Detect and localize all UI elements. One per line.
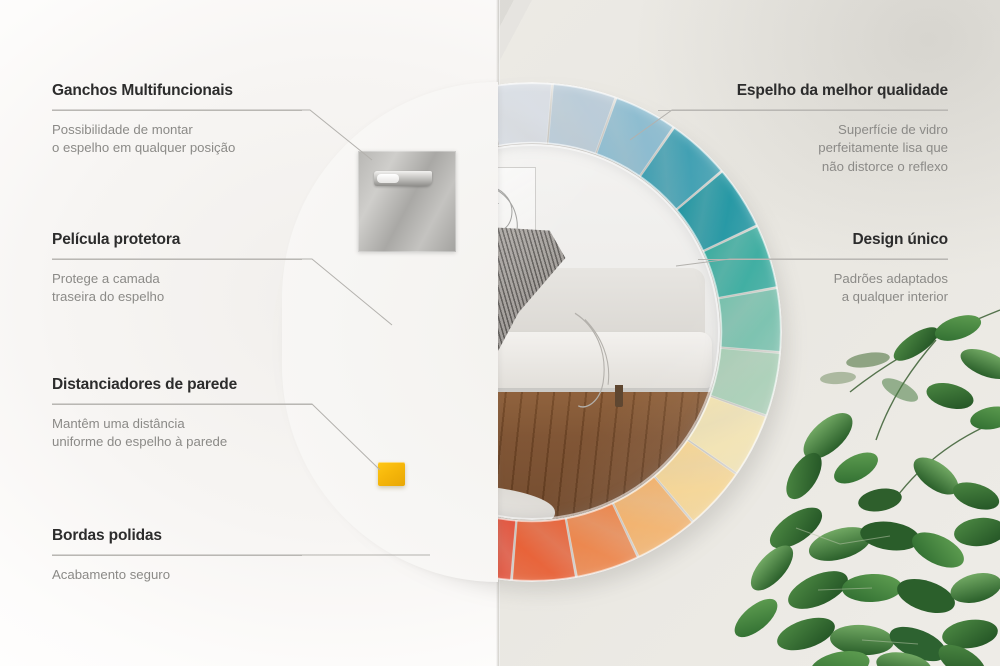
callout-rule	[52, 259, 302, 260]
callout-rule	[52, 110, 302, 111]
callout-title: Bordas polidas	[52, 527, 302, 546]
hook-slot	[377, 174, 399, 183]
callout-distanciadores-de-parede: Distanciadores de parede Mantêm uma dist…	[52, 376, 312, 452]
frame-segment-12	[513, 518, 576, 581]
callout-ganchos-multifuncionais: Ganchos Multifuncionais Possibilidade de…	[52, 82, 302, 158]
callout-design-unico: Design único Padrões adaptados a qualque…	[698, 231, 948, 307]
callout-description: Mantêm uma distância uniforme do espelho…	[52, 415, 312, 452]
callout-rule	[52, 555, 302, 556]
callout-title: Distanciadores de parede	[52, 376, 312, 395]
mounting-hook-plate	[358, 151, 456, 252]
hook-fixture	[374, 171, 432, 186]
callout-desc-line: o espelho em qualquer posição	[52, 139, 302, 158]
callout-title: Película protetora	[52, 231, 302, 250]
callout-rule	[658, 110, 948, 111]
callout-desc-line: Protege a camada	[52, 270, 302, 289]
callout-description: Superfície de vidro perfeitamente lisa q…	[658, 121, 948, 177]
callout-title: Espelho da melhor qualidade	[658, 82, 948, 101]
callout-description: Padrões adaptados a qualquer interior	[698, 270, 948, 307]
callout-rule	[52, 404, 312, 405]
callout-rule	[698, 259, 948, 260]
infographic-canvas: Ganchos Multifuncionais Possibilidade de…	[0, 0, 1000, 666]
callout-desc-line: uniforme do espelho à parede	[52, 433, 312, 452]
callout-desc-line: não distorce o reflexo	[658, 158, 948, 177]
callout-description: Possibilidade de montar o espelho em qua…	[52, 121, 302, 158]
callout-desc-line: traseira do espelho	[52, 288, 302, 307]
callout-desc-line: Mantêm uma distância	[52, 415, 312, 434]
wall-spacer-block	[378, 462, 405, 486]
callout-desc-line: Acabamento seguro	[52, 566, 302, 585]
callout-desc-line: a qualquer interior	[698, 288, 948, 307]
callout-desc-line: Superfície de vidro	[658, 121, 948, 140]
callout-desc-line: Padrões adaptados	[698, 270, 948, 289]
callout-desc-line: perfeitamente lisa que	[658, 139, 948, 158]
reflected-cable	[570, 309, 653, 414]
callout-bordas-polidas: Bordas polidas Acabamento seguro	[52, 527, 302, 584]
callout-description: Protege a camada traseira do espelho	[52, 270, 302, 307]
callout-title: Ganchos Multifuncionais	[52, 82, 302, 101]
callout-title: Design único	[698, 231, 948, 250]
callout-espelho-da-melhor-qualidade: Espelho da melhor qualidade Superfície d…	[658, 82, 948, 177]
callout-desc-line: Possibilidade de montar	[52, 121, 302, 140]
frame-segment-0	[489, 83, 552, 146]
callout-pelicula-protetora: Película protetora Protege a camada tras…	[52, 231, 302, 307]
callout-description: Acabamento seguro	[52, 566, 302, 585]
